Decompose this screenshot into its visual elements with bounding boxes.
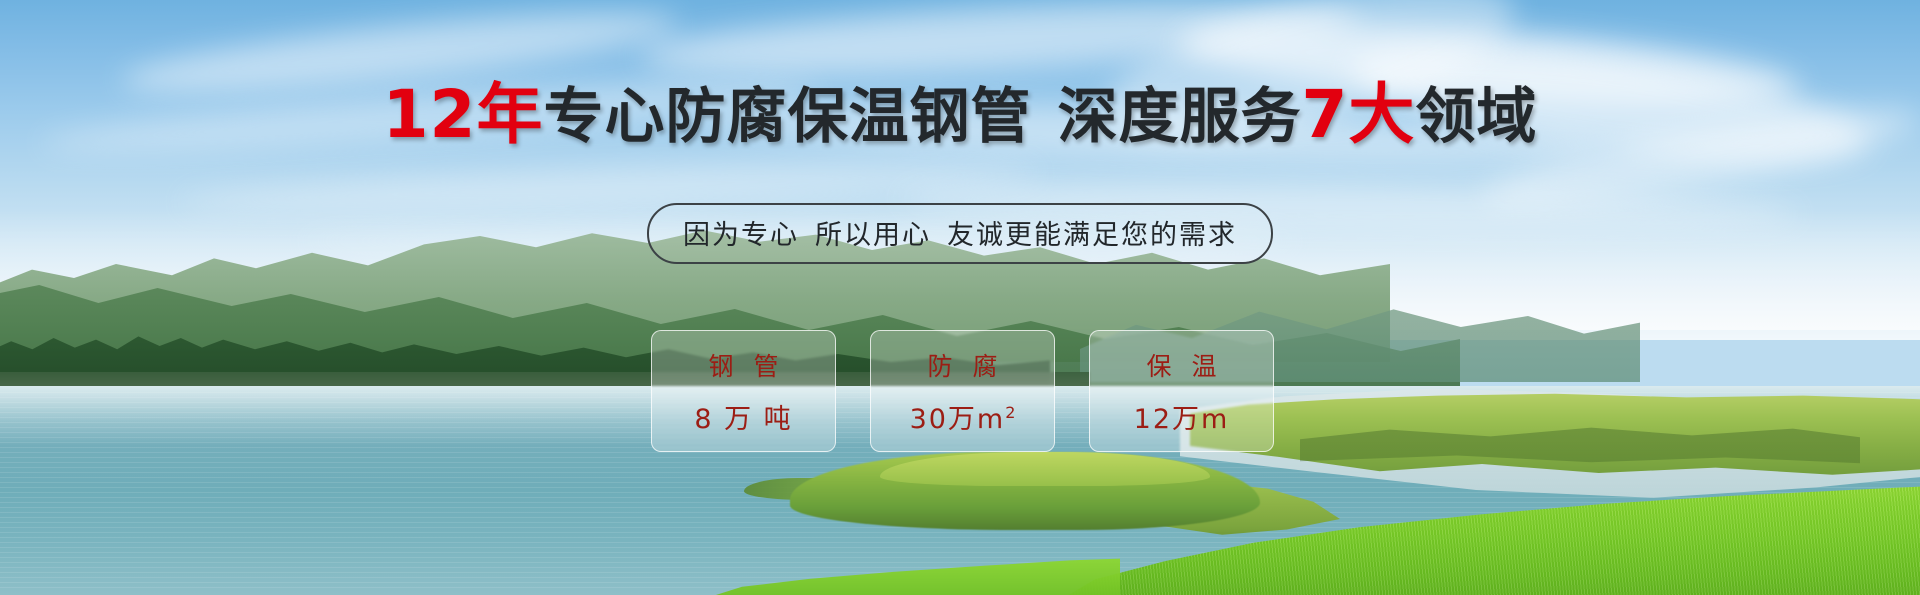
hero-banner: 12年专心防腐保温钢管深度服务7大领域 因为专心所以用心友诚更能满足您的需求 钢…	[0, 0, 1920, 595]
subtitle-part-3: 友诚更能满足您的需求	[947, 220, 1237, 251]
stat-card-value-text: 30万m	[910, 404, 1006, 435]
stat-card-steel-pipe[interactable]: 钢 管 8 万 吨	[651, 330, 836, 452]
stat-card-value: 8 万 吨	[694, 397, 792, 436]
subtitle-part-1: 因为专心	[683, 220, 799, 251]
stat-card-anticorrosion[interactable]: 防 腐 30万m2	[870, 330, 1055, 452]
stat-card-value-text: 12万m	[1134, 404, 1230, 435]
stat-card-group: 钢 管 8 万 吨 防 腐 30万m2 保 温 12万m	[651, 330, 1274, 452]
stat-card-value: 12万m	[1134, 397, 1230, 436]
banner-subtitle-pill: 因为专心所以用心友诚更能满足您的需求	[647, 203, 1273, 264]
stat-card-value-superscript: 2	[1005, 403, 1015, 422]
headline-fields-number: 7	[1301, 76, 1348, 153]
headline-years-number: 12	[383, 76, 477, 153]
banner-subtitle-container: 因为专心所以用心友诚更能满足您的需求	[0, 203, 1920, 264]
stat-card-value: 30万m2	[910, 397, 1016, 436]
banner-headline: 12年专心防腐保温钢管深度服务7大领域	[0, 84, 1920, 148]
subtitle-part-2: 所以用心	[815, 220, 931, 251]
headline-service-text: 深度服务	[1057, 82, 1301, 152]
headline-fields-unit: 大	[1348, 76, 1415, 153]
headline-main-text: 专心防腐保温钢管	[543, 82, 1031, 152]
stat-card-value-text: 8 万 吨	[694, 404, 792, 435]
stat-card-title: 防 腐	[922, 347, 1004, 383]
stat-card-insulation[interactable]: 保 温 12万m	[1089, 330, 1274, 452]
headline-fields-text: 领域	[1415, 82, 1537, 152]
stat-card-title: 钢 管	[703, 347, 785, 383]
headline-years-unit: 年	[476, 76, 543, 153]
stat-card-title: 保 温	[1141, 347, 1223, 383]
